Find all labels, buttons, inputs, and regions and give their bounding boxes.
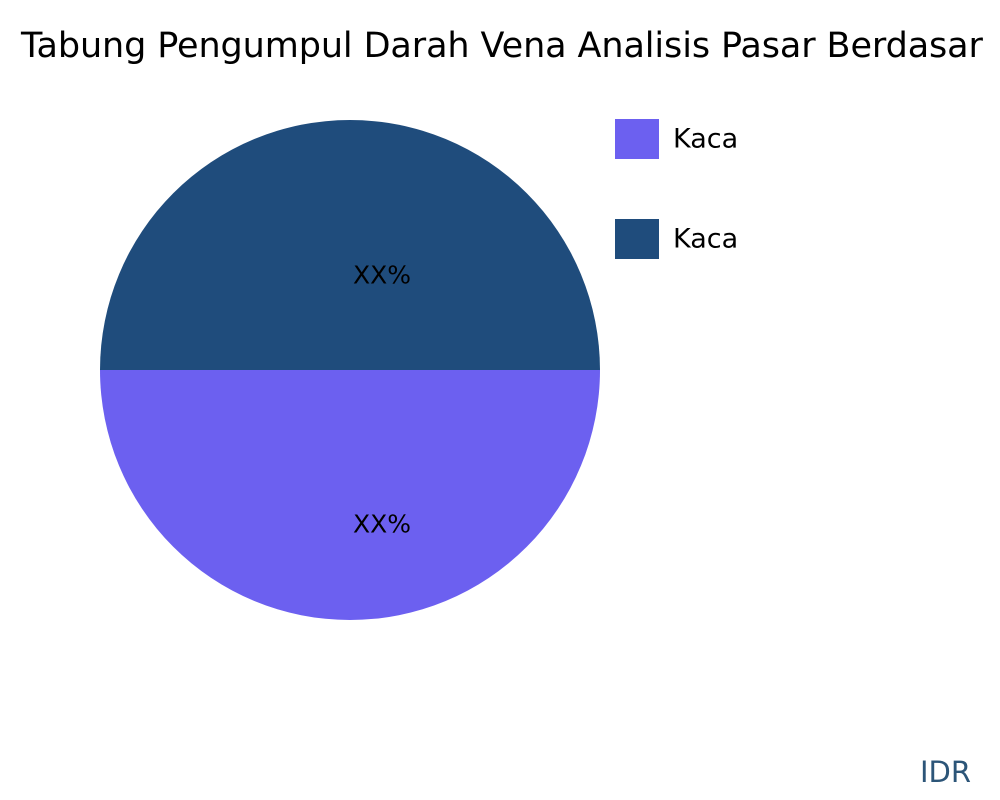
pie-slice-kaca-bottom[interactable] xyxy=(100,370,600,620)
legend-color-swatch xyxy=(615,219,659,259)
pie-chart: XX% XX% xyxy=(100,120,600,620)
legend-item-label: Kaca xyxy=(673,124,738,155)
pie-slice-label-bottom: XX% xyxy=(353,510,411,539)
pie-slice-label-top: XX% xyxy=(353,261,411,290)
legend-item-label: Kaca xyxy=(673,224,738,255)
legend-color-swatch xyxy=(615,119,659,159)
chart-legend: Kaca Kaca xyxy=(615,119,945,319)
currency-note: IDR xyxy=(920,755,971,789)
page-title: Tabung Pengumpul Darah Vena Analisis Pas… xyxy=(21,24,1000,68)
legend-item[interactable]: Kaca xyxy=(615,219,945,259)
pie-slice-kaca-top[interactable] xyxy=(100,120,600,370)
pie-svg xyxy=(100,120,600,620)
chart-canvas: Tabung Pengumpul Darah Vena Analisis Pas… xyxy=(0,0,1000,800)
legend-item[interactable]: Kaca xyxy=(615,119,945,159)
